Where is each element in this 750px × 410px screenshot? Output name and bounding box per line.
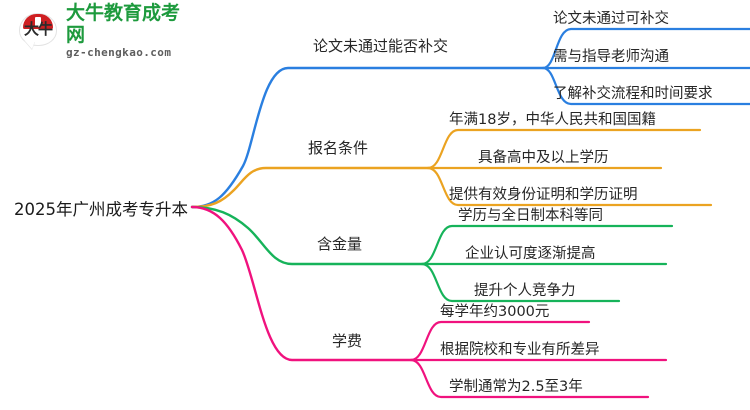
mindmap-leaf-node-2-3[interactable]: 提供有效身份证明和学历证明 (449, 183, 638, 204)
mindmap-leaf-node-1-1[interactable]: 论文未通过可补交 (553, 7, 669, 28)
mindmap-leaf-node-2-1[interactable]: 年满18岁，中华人民共和国国籍 (449, 108, 656, 129)
branch-spine-3 (192, 207, 422, 264)
mindmap-canvas: 大牛 大牛教育成考网 gz-chengkao.com (0, 0, 750, 410)
mindmap-leaf-node-1-2[interactable]: 需与指导老师沟通 (553, 45, 669, 66)
mindmap-branch-node-1[interactable]: 论文未通过能否补交 (313, 35, 448, 56)
mindmap-leaf-node-2-2[interactable]: 具备高中及以上学历 (478, 146, 609, 167)
branch-spine-2 (192, 168, 428, 207)
mindmap-leaf-node-3-3[interactable]: 提升个人竞争力 (474, 279, 576, 300)
branch-spine-4 (192, 207, 411, 360)
mindmap-leaf-node-1-3[interactable]: 了解补交流程和时间要求 (553, 82, 713, 103)
mindmap-leaf-node-4-2[interactable]: 根据院校和专业有所差异 (440, 338, 600, 359)
mindmap-leaf-node-4-1[interactable]: 每学年约3000元 (440, 300, 549, 321)
mindmap-branch-node-4[interactable]: 学费 (332, 330, 362, 351)
mindmap-branch-node-3[interactable]: 含金量 (317, 233, 362, 254)
mindmap-root-node[interactable]: 2025年广州成考专升本 (14, 196, 188, 220)
mindmap-leaf-node-3-2[interactable]: 企业认可度逐渐提高 (465, 242, 596, 263)
mindmap-leaf-node-4-3[interactable]: 学制通常为2.5至3年 (449, 375, 583, 396)
mindmap-leaf-node-3-1[interactable]: 学历与全日制本科等同 (458, 204, 603, 225)
mindmap-branch-node-2[interactable]: 报名条件 (308, 137, 368, 158)
